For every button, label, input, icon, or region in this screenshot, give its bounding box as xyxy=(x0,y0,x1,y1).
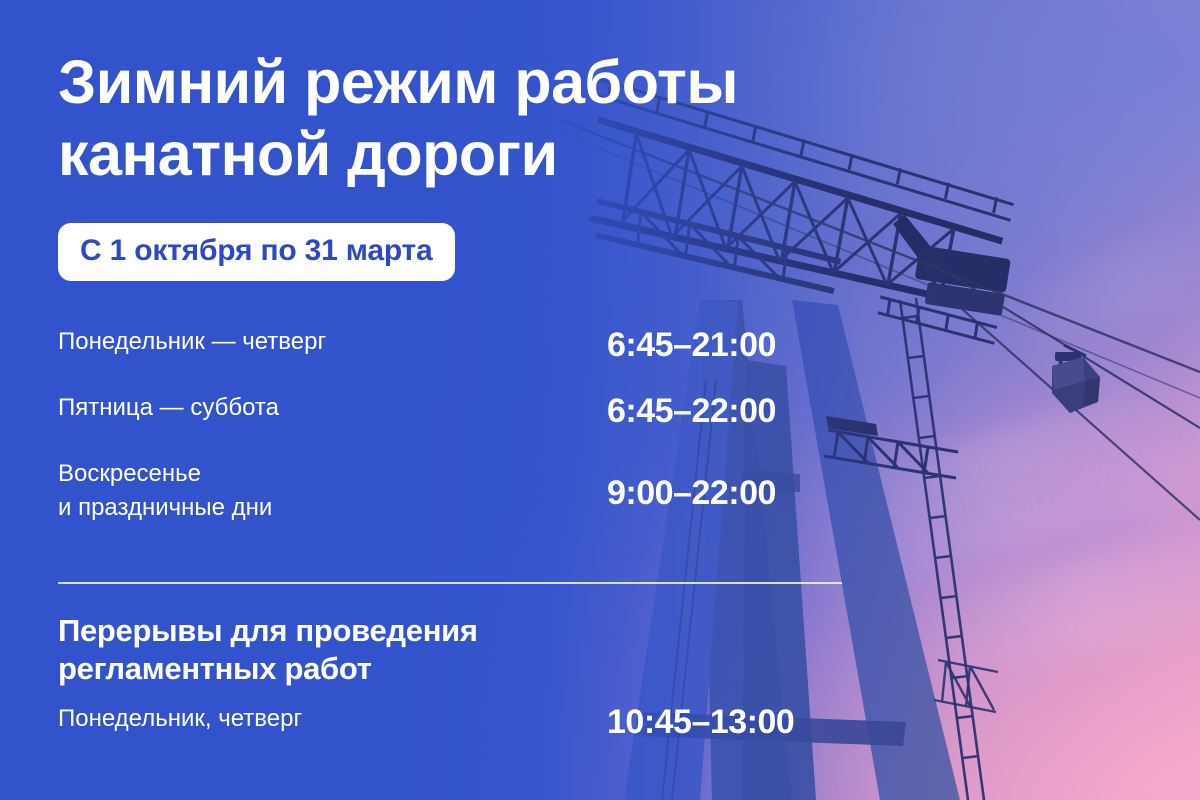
schedule-day-label: Пятница — суббота xyxy=(58,391,279,425)
schedule-time-value: 6:45–22:00 xyxy=(607,391,776,431)
content-area: Зимний режим работы канатной дороги С 1 … xyxy=(58,0,878,800)
period-badge: С 1 октября по 31 марта xyxy=(58,223,455,281)
schedule-time-value: 6:45–21:00 xyxy=(607,325,776,365)
section-divider xyxy=(58,582,842,584)
maintenance-section-title: Перерывы для проведения регламентных раб… xyxy=(58,612,478,688)
poster-canvas: Зимний режим работы канатной дороги С 1 … xyxy=(0,0,1200,800)
schedule-list: Понедельник — четверг 6:45–21:00 Пятница… xyxy=(58,325,878,543)
maintenance-day-label: Понедельник, четверг xyxy=(58,702,302,736)
schedule-day-label: Воскресенье и праздничные дни xyxy=(58,457,272,525)
schedule-row: Пятница — суббота 6:45–22:00 xyxy=(58,391,878,457)
page-title: Зимний режим работы канатной дороги xyxy=(58,46,738,190)
maintenance-time-value: 10:45–13:00 xyxy=(607,702,794,742)
schedule-row: Воскресенье и праздничные дни 9:00–22:00 xyxy=(58,457,878,543)
maintenance-list: Понедельник, четверг 10:45–13:00 xyxy=(58,702,878,768)
schedule-time-value: 9:00–22:00 xyxy=(607,473,776,513)
schedule-row: Понедельник — четверг 6:45–21:00 xyxy=(58,325,878,391)
maintenance-row: Понедельник, четверг 10:45–13:00 xyxy=(58,702,878,768)
schedule-day-label: Понедельник — четверг xyxy=(58,325,326,359)
